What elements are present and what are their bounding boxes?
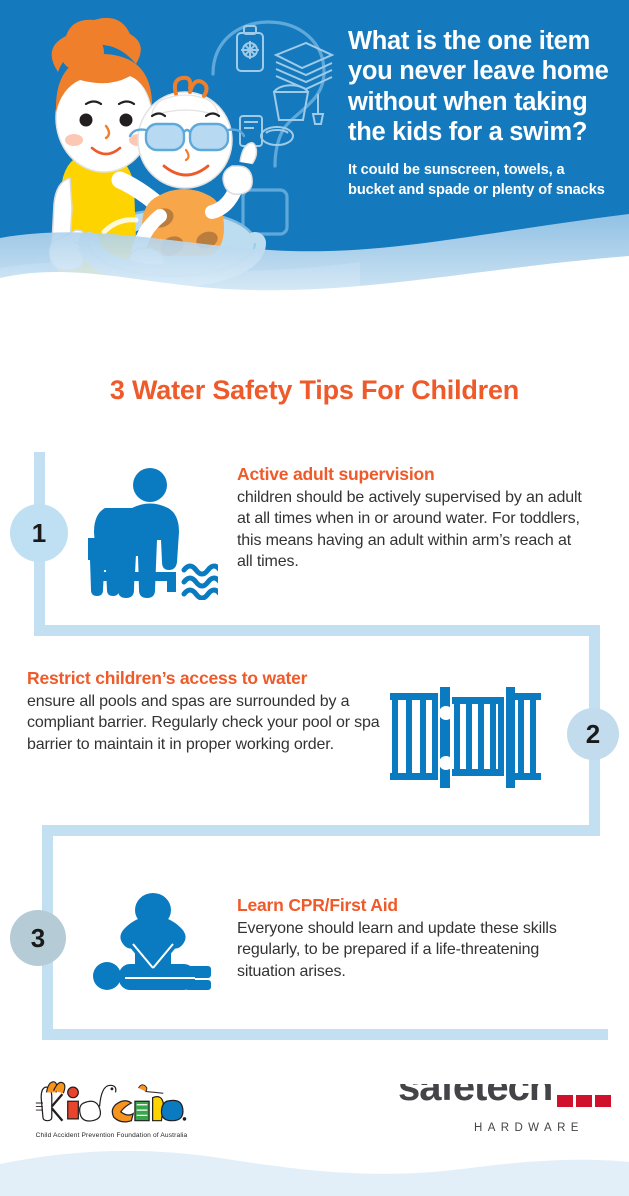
hero-subtitle: It could be sunscreen, towels, a bucket …: [348, 161, 614, 200]
hero-section: What is the one item you never leave hom…: [0, 0, 629, 300]
tip-text-2: Restrict children’s access to water ensu…: [27, 668, 387, 755]
tip-icon-2: [388, 685, 543, 790]
tip-badge-1-number: 1: [32, 520, 46, 546]
tip-text-1: Active adult supervision children should…: [237, 464, 587, 572]
infographic-page: What is the one item you never leave hom…: [0, 0, 629, 1196]
tip-icon-1: [88, 460, 218, 600]
kidsafe-letter-k: [36, 1082, 65, 1121]
tip-heading-2: Restrict children’s access to water: [27, 668, 387, 689]
kidsafe-letter-e: [161, 1100, 182, 1120]
tip-badge-3: 3: [10, 910, 66, 966]
hero-title: What is the one item you never leave hom…: [348, 26, 614, 147]
kidsafe-letter-a: [135, 1101, 149, 1120]
hero-copy: What is the one item you never leave hom…: [348, 26, 614, 200]
safetech-wordmark: safetech: [398, 1084, 552, 1109]
safetech-bars-icon: [557, 1095, 611, 1107]
baby-pointing-hand: [223, 166, 252, 194]
tip-body-3: Everyone should learn and update these s…: [237, 918, 587, 982]
tip-badge-2-number: 2: [586, 721, 600, 747]
page-title: 3 Water Safety Tips For Children: [0, 375, 629, 406]
tip-heading-1: Active adult supervision: [237, 464, 587, 485]
sunscreen-bottle-icon: [237, 26, 263, 71]
kidsafe-figure-icon: [138, 1085, 163, 1093]
tip-body-1: children should be actively supervised b…: [237, 487, 587, 572]
tip-text-3: Learn CPR/First Aid Everyone should lear…: [237, 895, 587, 982]
safetech-logo: safetech: [398, 1084, 613, 1126]
hero-wave-divider: [0, 204, 629, 300]
cpr-chest-compression-icon: [93, 893, 211, 990]
tip-heading-3: Learn CPR/First Aid: [237, 895, 587, 916]
footer-wave: [0, 1140, 629, 1196]
connector-bottom-3: [42, 1020, 608, 1040]
footer-section: Child Accident Prevention Foundation of …: [0, 1060, 629, 1196]
kidsafe-wordmark: [24, 1080, 199, 1126]
tip-icon-3: [85, 890, 225, 1000]
kidsafe-letter-d: [80, 1085, 116, 1121]
tips-flow: 1: [0, 440, 629, 1060]
safetech-subtitle: HARDWARE: [474, 1122, 584, 1134]
kidsafe-letter-i: [68, 1087, 79, 1119]
kidsafe-logo: Child Accident Prevention Foundation of …: [24, 1080, 199, 1139]
tip-body-2: ensure all pools and spas are surrounded…: [27, 691, 387, 755]
kidsafe-tagline: Child Accident Prevention Foundation of …: [24, 1132, 199, 1139]
tip-badge-1: 1: [10, 504, 68, 562]
tip-badge-3-number: 3: [31, 925, 45, 951]
kidsafe-letter-s: [112, 1101, 133, 1122]
tip-badge-2: 2: [567, 708, 619, 760]
pool-fence-gate-icon: [390, 687, 541, 788]
adult-holding-child-at-poolside-icon: [88, 468, 218, 598]
bucket-and-spade-icon: [274, 85, 323, 124]
